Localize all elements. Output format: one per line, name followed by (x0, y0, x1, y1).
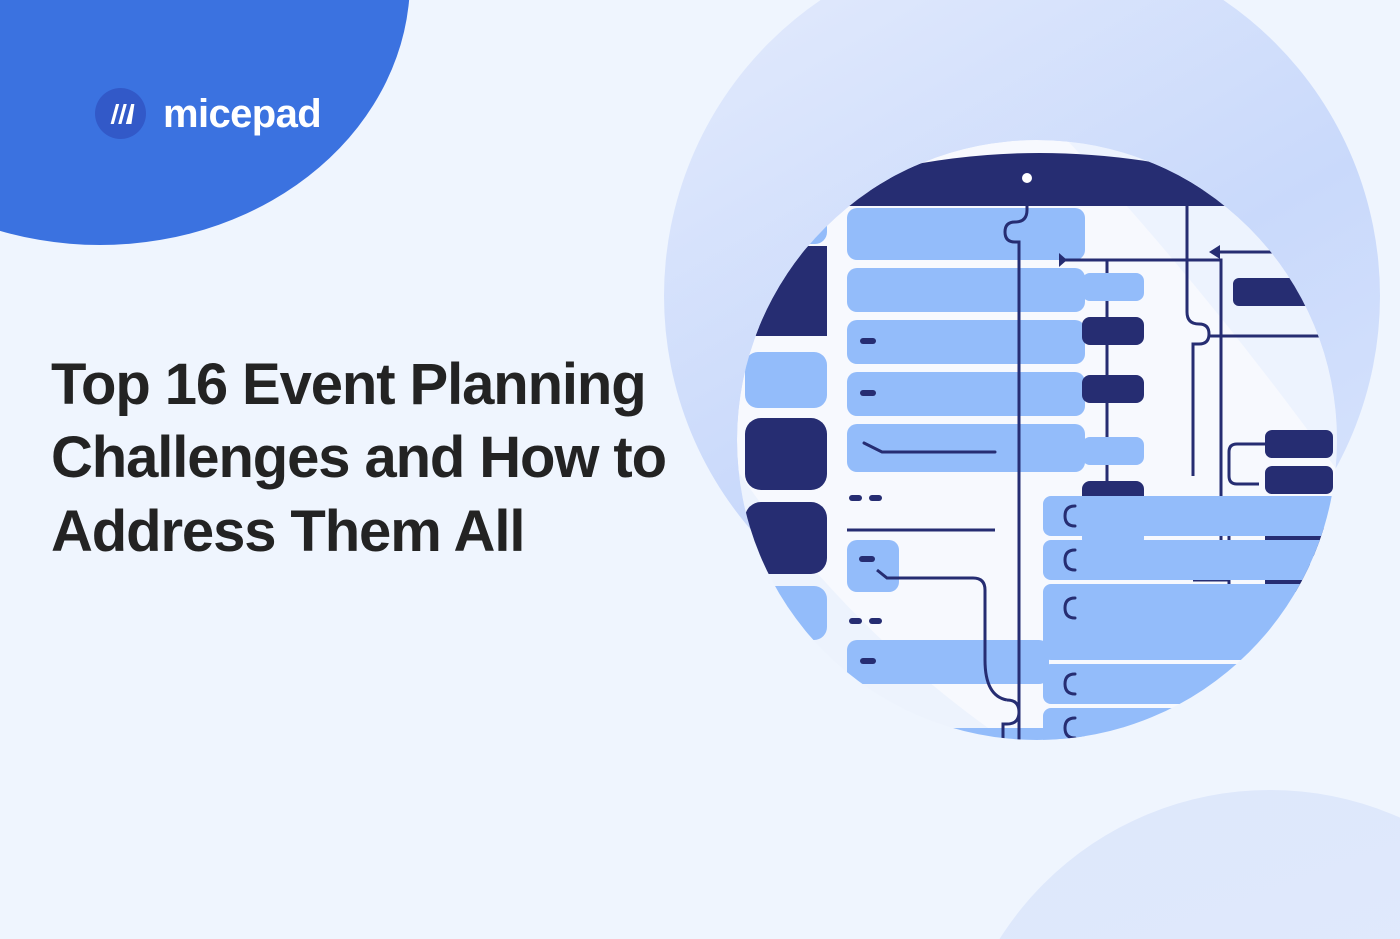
page-title: Top 16 Event Planning Challenges and How… (51, 348, 731, 568)
brand-logo[interactable]: micepad (95, 88, 321, 139)
micepad-m-mark-icon (95, 88, 146, 139)
poster-canvas: micepad Top 16 Event Planning Challenges… (0, 0, 1400, 939)
background-circle-bottom (950, 790, 1400, 939)
event-planning-dashboard-illustration (737, 140, 1337, 780)
brand-name: micepad (163, 94, 321, 134)
sidebar-column (745, 200, 827, 724)
